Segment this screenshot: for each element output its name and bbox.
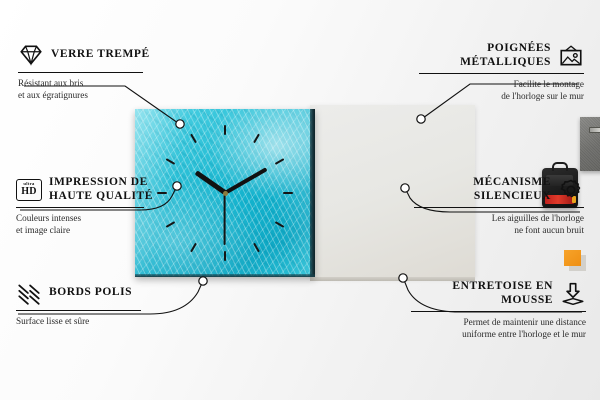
feature-title: POIGNÉES MÉTALLIQUES	[419, 42, 551, 69]
diamond-icon	[18, 42, 44, 68]
connector-dot-bords-polis	[199, 277, 207, 285]
feature-mecanisme-silencieux: MÉCANISME SILENCIEUX Les aiguilles de l'…	[414, 176, 584, 236]
feature-entretoise-en-mousse: ENTRETOISE EN MOUSSE Permet de maintenir…	[411, 280, 586, 340]
feature-title: IMPRESSION DE HAUTE QUALITÉ	[49, 176, 181, 203]
polished-edges-icon	[16, 280, 42, 306]
feature-subtitle: Résistant aux bris et aux égratignures	[18, 77, 168, 101]
feature-rule	[16, 310, 141, 311]
connector-dot-mecanisme	[401, 184, 409, 192]
feature-rule	[16, 207, 144, 208]
feature-subtitle: Les aiguilles de l'horloge ne font aucun…	[414, 212, 584, 236]
connector-dot-verre-trempe	[176, 120, 184, 128]
feature-verre-trempe: VERRE TREMPÉ Résistant aux bris et aux é…	[18, 42, 168, 101]
gear-icon	[558, 177, 584, 203]
feature-title: MÉCANISME SILENCIEUX	[414, 176, 551, 203]
feature-title: ENTRETOISE EN MOUSSE	[411, 280, 553, 307]
feature-poignees-metalliques: POIGNÉES MÉTALLIQUES Facilite le montage…	[419, 42, 584, 102]
wall-mount-frame-icon	[558, 43, 584, 69]
arrow-down-stack-icon	[560, 281, 586, 307]
infographic-canvas: VERRE TREMPÉ Résistant aux bris et aux é…	[0, 0, 600, 400]
ultra-hd-main-label: HD	[21, 187, 36, 197]
feature-rule	[414, 207, 584, 208]
connector-dot-entretoise	[399, 274, 407, 282]
feature-bords-polis: BORDS POLIS Surface lisse et sûre	[16, 280, 166, 327]
connector-dot-poignees	[417, 115, 425, 123]
feature-impression-haute-qualite: ultra HD IMPRESSION DE HAUTE QUALITÉ Cou…	[16, 176, 181, 236]
feature-subtitle: Permet de maintenir une distance uniform…	[411, 316, 586, 340]
feature-title: VERRE TREMPÉ	[51, 48, 150, 62]
ultra-hd-icon: ultra HD	[16, 179, 42, 201]
feature-subtitle: Couleurs intenses et image claire	[16, 212, 181, 236]
feature-title: BORDS POLIS	[49, 286, 132, 300]
feature-subtitle: Surface lisse et sûre	[16, 315, 166, 327]
feature-rule	[419, 73, 584, 74]
feature-rule	[411, 311, 586, 312]
feature-subtitle: Facilite le montage de l'horloge sur le …	[419, 78, 584, 102]
feature-rule	[18, 72, 143, 73]
